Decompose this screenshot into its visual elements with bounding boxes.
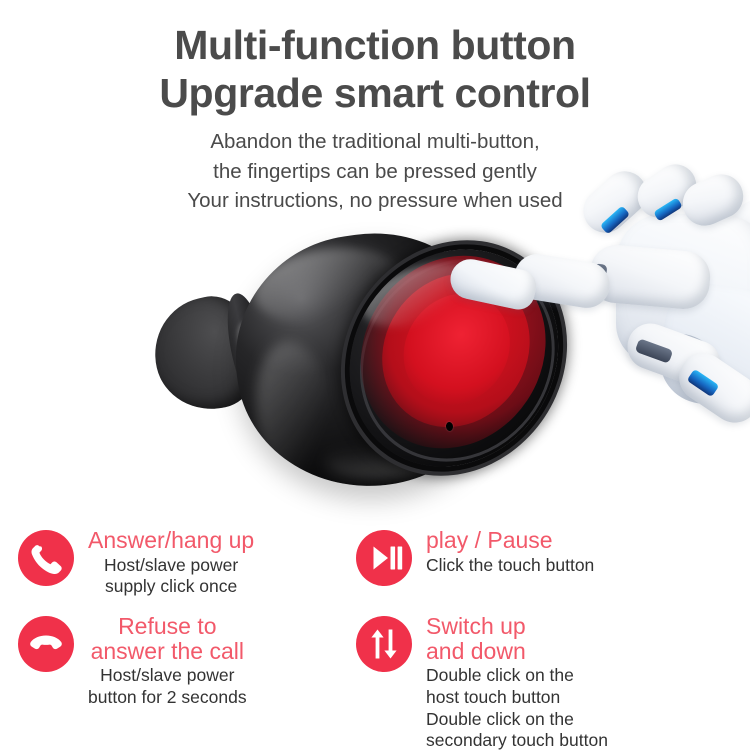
play-pause-icon: [356, 530, 412, 586]
feature-description: Click the touch button: [426, 555, 594, 577]
phone-hangup-icon: [18, 616, 74, 672]
phone-call-icon: [18, 530, 74, 586]
feature-title: Switch up and down: [426, 614, 608, 663]
feature-text-block: Answer/hang up Host/slave power supply c…: [74, 528, 254, 598]
feature-text-block: Switch up and down Double click on the h…: [412, 614, 608, 750]
feature-title: Refuse to answer the call: [88, 614, 247, 663]
feature-title: play / Pause: [426, 528, 594, 553]
infographic-page: Multi-function button Upgrade smart cont…: [0, 0, 750, 750]
feature-item-play-pause[interactable]: play / Pause Click the touch button: [356, 528, 736, 586]
feature-text-block: play / Pause Click the touch button: [412, 528, 594, 576]
feature-description: Double click on the host touch button Do…: [426, 665, 608, 750]
earbud-highlight-side: [247, 336, 345, 495]
headline-line-2: Upgrade smart control: [0, 70, 750, 118]
subtitle-line-1: Abandon the traditional multi-button,: [0, 127, 750, 157]
product-stage: [0, 218, 750, 518]
headline-line-1: Multi-function button: [0, 22, 750, 70]
page-title: Multi-function button Upgrade smart cont…: [0, 22, 750, 118]
feature-description: Host/slave power supply click once: [88, 555, 254, 598]
feature-title: Answer/hang up: [88, 528, 254, 553]
feature-list: Answer/hang up Host/slave power supply c…: [0, 524, 750, 750]
feature-item-answer-hang-up[interactable]: Answer/hang up Host/slave power supply c…: [18, 528, 348, 598]
feature-description: Host/slave power button for 2 seconds: [88, 665, 247, 708]
feature-item-refuse-call[interactable]: Refuse to answer the call Host/slave pow…: [18, 614, 348, 709]
feature-text-block: Refuse to answer the call Host/slave pow…: [74, 614, 247, 709]
switch-up-down-icon: [356, 616, 412, 672]
robotic-hand-image: [440, 168, 750, 498]
feature-item-switch-up-down[interactable]: Switch up and down Double click on the h…: [356, 614, 736, 750]
